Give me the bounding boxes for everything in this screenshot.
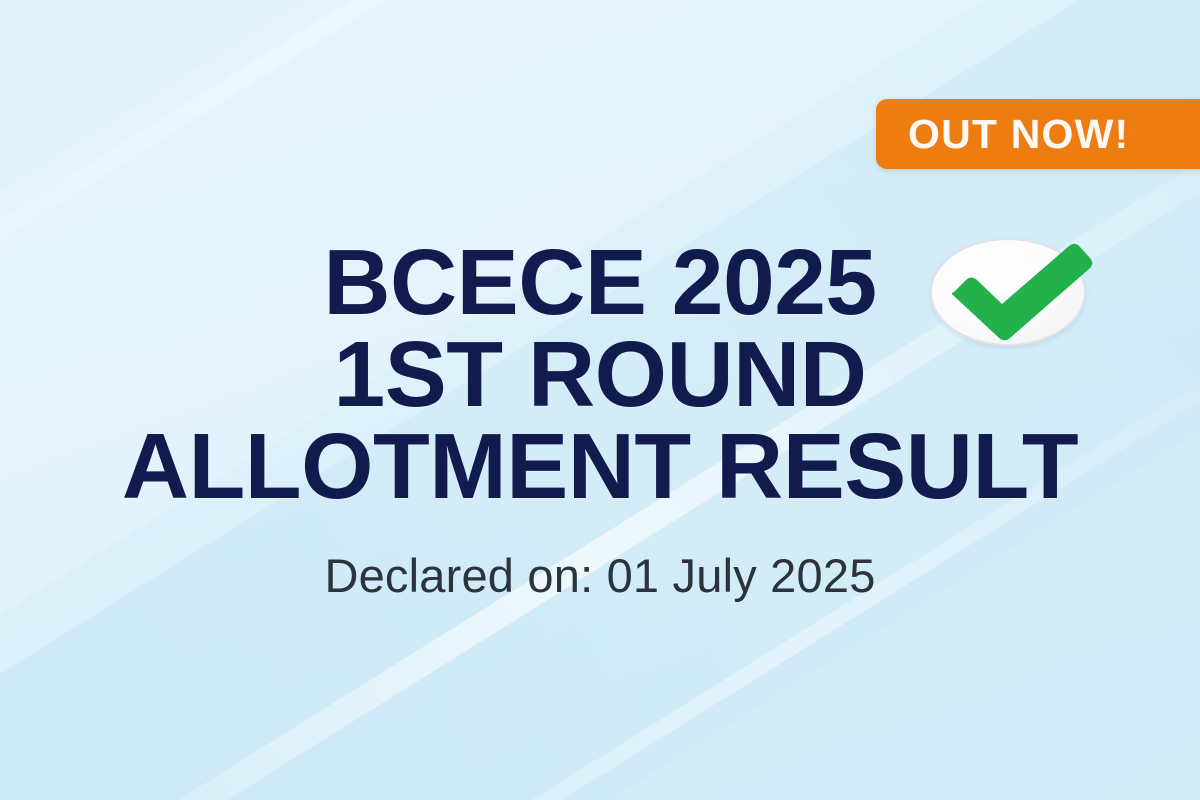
out-now-badge: OUT NOW! bbox=[876, 99, 1200, 169]
result-announcement-banner: OUT NOW! BCECE 2025 1ST ROUND ALLOTMENT … bbox=[0, 0, 1200, 800]
headline-line-1: BCECE 2025 bbox=[0, 236, 1200, 328]
declared-on-subtitle: Declared on: 01 July 2025 bbox=[0, 548, 1200, 604]
headline-line-3: ALLOTMENT RESULT bbox=[0, 420, 1200, 512]
out-now-badge-label: OUT NOW! bbox=[908, 114, 1129, 155]
headline-block: BCECE 2025 1ST ROUND ALLOTMENT RESULT bbox=[0, 236, 1200, 512]
headline-line-2: 1ST ROUND bbox=[0, 328, 1200, 420]
